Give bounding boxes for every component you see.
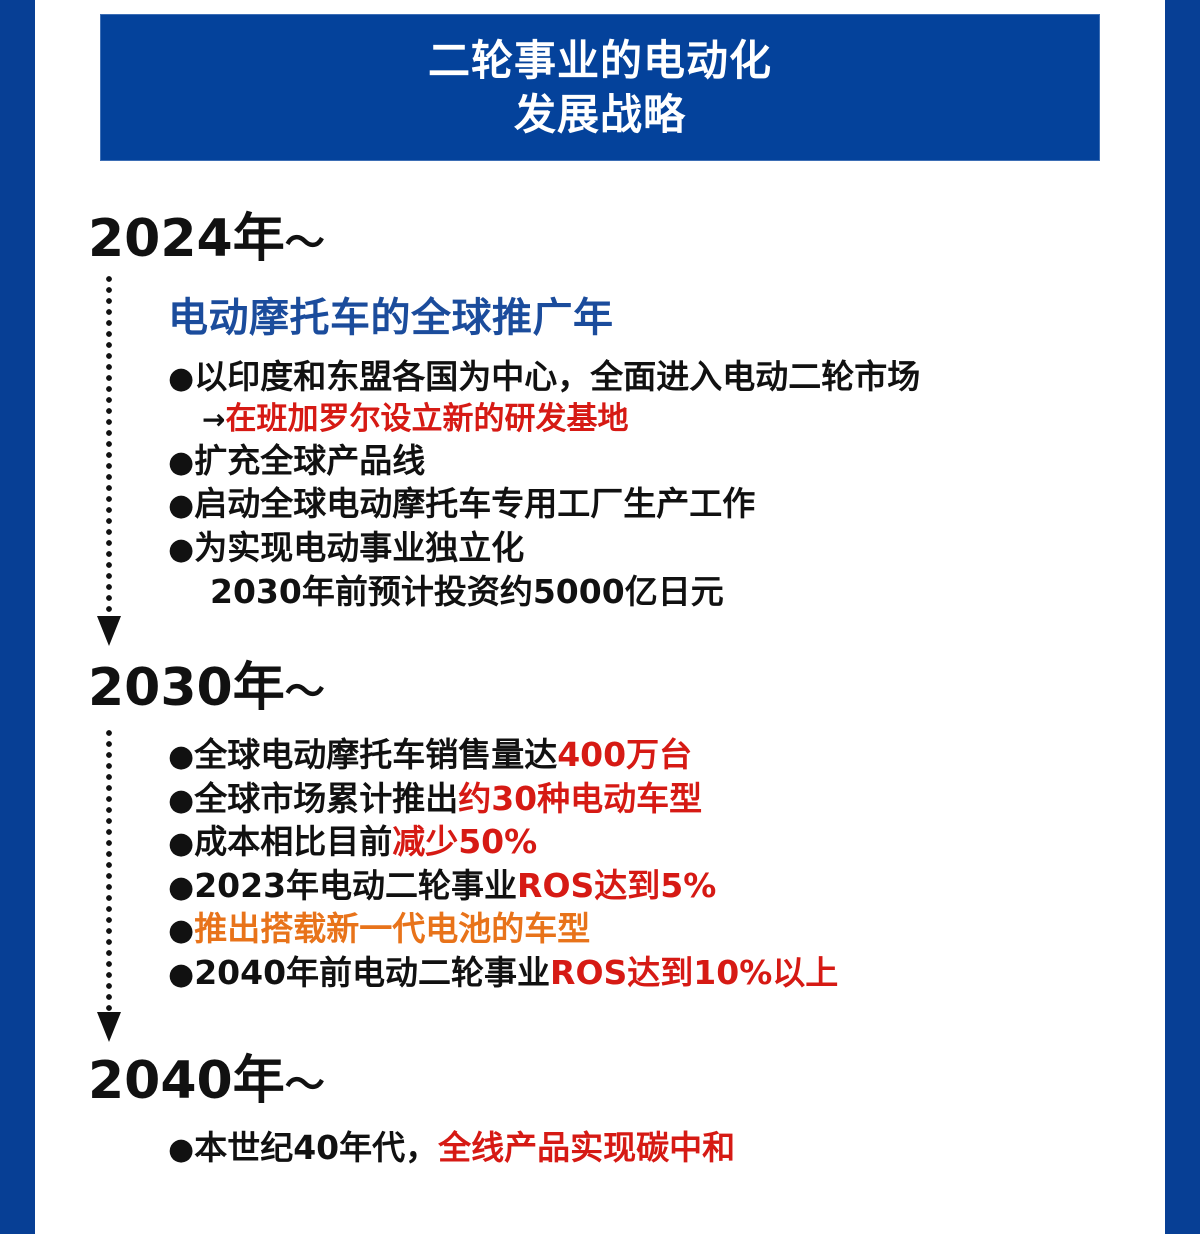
list-item-text: 本世纪40年代，	[194, 1128, 438, 1167]
title-line-2: 发展战略	[514, 88, 686, 142]
year-label-2024: 2024年	[88, 209, 285, 269]
list-item-text: 成本相比目前	[194, 822, 392, 861]
list-item: ●2040年前电动二轮事业ROS达到10%以上	[168, 951, 838, 995]
bullet-dot-icon: ●	[168, 532, 194, 567]
bullet-dot-icon: ●	[168, 488, 194, 523]
list-item-text: 以印度和东盟各国为中心，全面进入电动二轮市场	[194, 357, 920, 396]
bullet-dot-icon: ●	[168, 870, 194, 905]
year-label-2040: 2040年	[88, 1051, 285, 1111]
list-item-text: 启动全球电动摩托车专用工厂生产工作	[194, 484, 755, 523]
list-item-text: 为实现电动事业独立化	[194, 528, 524, 567]
bullet-list-2040: ●本世纪40年代，全线产品实现碳中和	[168, 1126, 735, 1170]
list-item-continuation: 2030年前预计投资约5000亿日元	[168, 570, 920, 614]
list-item-text: 2023年电动二轮事业	[194, 866, 517, 905]
list-item: ●启动全球电动摩托车专用工厂生产工作	[168, 482, 920, 526]
bullet-dot-icon: ●	[168, 783, 194, 818]
list-item-text-highlight: 全线产品实现碳中和	[438, 1128, 735, 1167]
bullet-dot-icon: ●	[168, 957, 194, 992]
list-item: ●2023年电动二轮事业ROS达到5%	[168, 864, 838, 908]
list-item: ●推出搭载新一代电池的车型	[168, 907, 838, 951]
list-item-text-highlight: 推出搭载新一代电池的车型	[194, 909, 590, 948]
year-heading-2040: 2040年～	[88, 1038, 325, 1113]
list-item: ●为实现电动事业独立化	[168, 526, 920, 570]
list-item-text-highlight: ROS达到10%以上	[550, 953, 838, 992]
tilde-2030: ～	[285, 669, 325, 715]
bullet-dot-icon: ●	[168, 445, 194, 480]
list-item-sub-arrow: →在班加罗尔设立新的研发基地	[168, 399, 920, 439]
list-item-text-highlight: 400万台	[557, 735, 692, 774]
tilde-2024: ～	[285, 220, 325, 266]
bullet-dot-icon: ●	[168, 913, 194, 948]
bullet-dot-icon: ●	[168, 739, 194, 774]
list-item: ●全球电动摩托车销售量达400万台	[168, 733, 838, 777]
list-item-text-highlight: 减少50%	[392, 822, 537, 861]
list-item-text: 全球电动摩托车销售量达	[194, 735, 557, 774]
bullet-dot-icon: ●	[168, 1132, 194, 1167]
bullet-list-2030: ●全球电动摩托车销售量达400万台 ●全球市场累计推出约30种电动车型 ●成本相…	[168, 733, 838, 995]
list-item-text-highlight: 约30种电动车型	[458, 779, 702, 818]
list-item: ●扩充全球产品线	[168, 439, 920, 483]
tilde-2040: ～	[285, 1062, 325, 1108]
arrow-down-icon	[97, 616, 121, 646]
year-heading-2024: 2024年～	[88, 196, 325, 271]
list-item-text-highlight: 在班加罗尔设立新的研发基地	[225, 401, 628, 437]
dotted-line-icon	[106, 276, 112, 616]
timeline-connector-2024-to-2030	[97, 276, 121, 648]
list-item: ●全球市场累计推出约30种电动车型	[168, 777, 838, 821]
timeline-connector-2030-to-2040	[97, 730, 121, 1040]
list-item-text-highlight: ROS达到5%	[517, 866, 716, 905]
list-item-text: 2040年前电动二轮事业	[194, 953, 550, 992]
list-item: ●成本相比目前减少50%	[168, 820, 838, 864]
list-item-text: 全球市场累计推出	[194, 779, 458, 818]
title-banner: 二轮事业的电动化 发展战略	[100, 14, 1100, 161]
section-subhead-2024: 电动摩托车的全球推广年	[168, 285, 614, 343]
dotted-line-icon	[106, 730, 112, 1012]
year-heading-2030: 2030年～	[88, 645, 325, 720]
list-item: ●以印度和东盟各国为中心，全面进入电动二轮市场	[168, 355, 920, 399]
bullet-dot-icon: ●	[168, 361, 194, 396]
infographic-page: 二轮事业的电动化 发展战略 2024年～ 电动摩托车的全球推广年 ●以印度和东盟…	[0, 0, 1200, 1234]
left-brand-rail	[0, 0, 35, 1234]
bullet-dot-icon: ●	[168, 826, 194, 861]
arrow-right-icon: →	[202, 403, 225, 436]
bullet-list-2024: ●以印度和东盟各国为中心，全面进入电动二轮市场 →在班加罗尔设立新的研发基地 ●…	[168, 355, 920, 613]
year-label-2030: 2030年	[88, 658, 285, 718]
list-item-text: 扩充全球产品线	[194, 441, 425, 480]
list-item: ●本世纪40年代，全线产品实现碳中和	[168, 1126, 735, 1170]
right-brand-rail	[1165, 0, 1200, 1234]
title-line-1: 二轮事业的电动化	[428, 34, 772, 88]
